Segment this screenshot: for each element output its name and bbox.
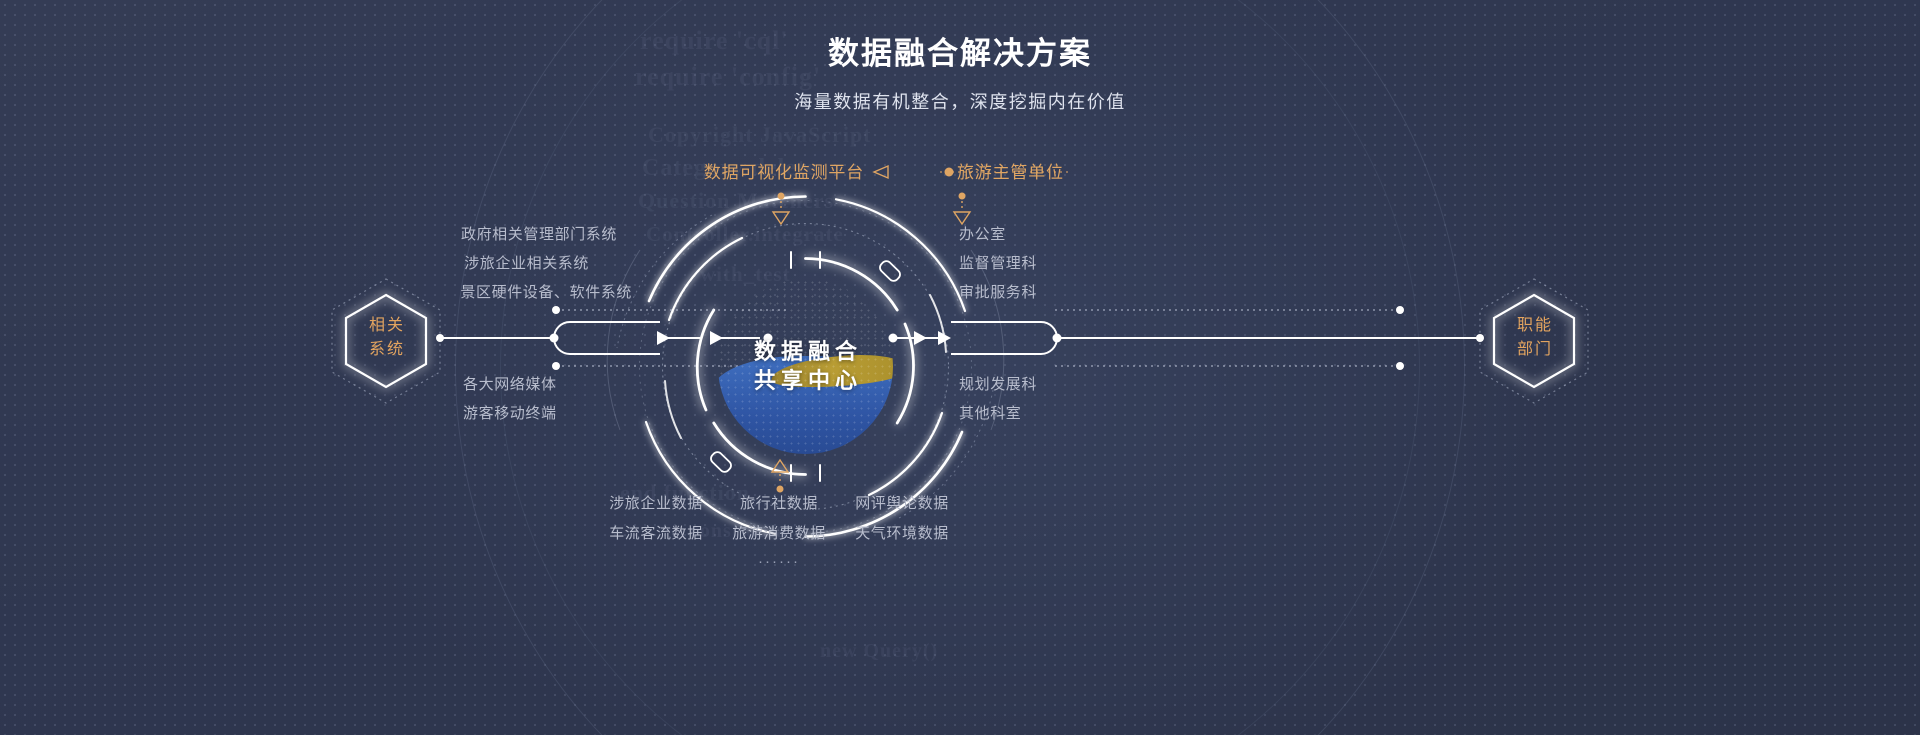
left-hexagon-label: 相关 系统 [332,279,440,397]
label-bottom-data-c1-1[interactable]: 车流客流数据 [609,526,703,541]
label-right-dept-1[interactable]: 监督管理科 [959,256,1037,271]
center-core-line-1: 数据融合 [749,339,862,365]
label-left-source-1[interactable]: 涉旅企业相关系统 [464,256,589,271]
center-core-line-2: 共享中心 [749,368,862,394]
label-left-source-0[interactable]: 政府相关管理部门系统 [461,227,617,242]
label-bottom-data-c3-0[interactable]: 网评舆论数据 [855,496,949,511]
left-hexagon-line-2: 系统 [367,341,405,359]
node-left-hexagon[interactable]: 相关 系统 [332,279,440,397]
label-bottom-data-c3-1[interactable]: 天气环境数据 [855,526,949,541]
right-bus-junction-dot [1053,334,1062,343]
right-hexagon-line-1: 职能 [1515,317,1553,335]
label-right-dept-2[interactable]: 审批服务科 [959,285,1037,300]
page-title: 数据融合解决方案 [0,34,1920,74]
label-right-dept-0[interactable]: 办公室 [959,227,1006,242]
center-core-text: 数据融合 共享中心 [718,279,893,454]
left-bus-junction-dot [550,334,559,343]
label-left-source-3[interactable]: 各大网络媒体 [463,377,557,392]
orange-marker-bottom-data [772,460,788,493]
header: 数据融合解决方案 海量数据有机整合，深度挖掘内在价值 [0,0,1920,114]
orange-marker-authority [954,193,970,225]
label-bottom-data-c1-0[interactable]: 涉旅企业数据 [609,496,703,511]
right-connector-bus [951,322,1480,354]
label-bottom-data-ellipsis: ······ [758,553,800,570]
page-subtitle: 海量数据有机整合，深度挖掘内在价值 [0,88,1920,114]
label-right-dept-3[interactable]: 规划发展科 [959,377,1037,392]
label-tourism-authority[interactable]: 旅游主管单位 [957,164,1064,181]
left-hexagon-line-1: 相关 [367,317,405,335]
right-hexagon-line-2: 部门 [1515,341,1553,359]
node-right-hexagon[interactable]: 职能 部门 [1480,279,1588,397]
label-bottom-data-c2-0[interactable]: 旅行社数据 [740,496,818,511]
right-hexagon-label: 职能 部门 [1480,279,1588,397]
center-core-node: 数据融合 共享中心 [718,279,893,454]
label-left-source-2[interactable]: 景区硬件设备、软件系统 [460,285,632,300]
label-bottom-data-c2-1[interactable]: 旅游消费数据 [732,526,826,541]
diagram-canvas: require 'cql' require 'config' Copyright… [0,0,1920,735]
label-left-source-4[interactable]: 游客移动终端 [463,406,557,421]
label-visualization-platform[interactable]: 数据可视化监测平台 [704,164,864,181]
label-right-dept-4[interactable]: 其他科室 [959,406,1021,421]
